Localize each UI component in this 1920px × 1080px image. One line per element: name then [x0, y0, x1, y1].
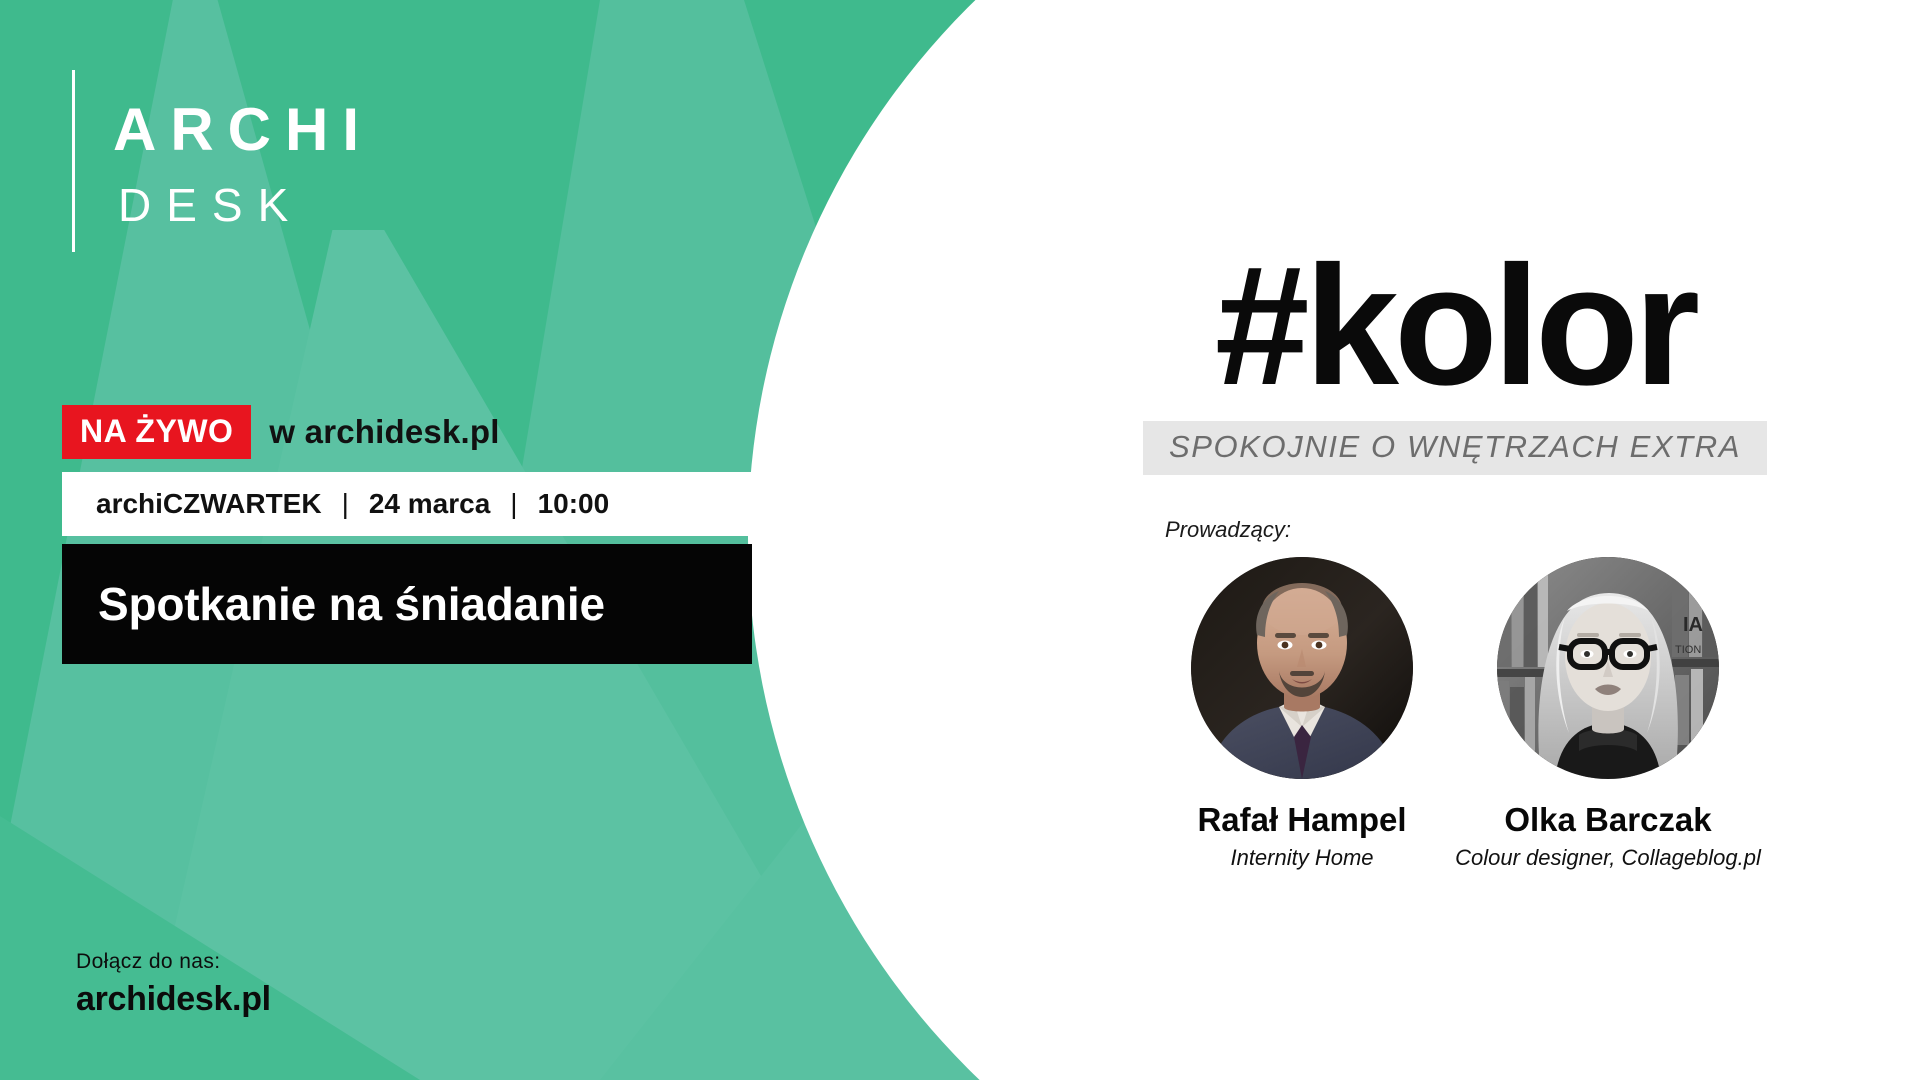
- live-badge: NA ŻYWO: [62, 405, 251, 459]
- speaker-name: Olka Barczak: [1504, 801, 1711, 839]
- logo-archi-text: ARCHI: [113, 100, 373, 160]
- poster-canvas: ARCHI DESK NA ŻYWO w archidesk.pl archiC…: [0, 0, 1920, 1080]
- live-where-text: w archidesk.pl: [269, 413, 499, 451]
- live-row: NA ŻYWO w archidesk.pl: [62, 405, 500, 459]
- logo-desk-text: DESK: [118, 182, 373, 228]
- headline-bar: Spotkanie na śniadanie: [62, 544, 752, 664]
- speakers-list: Rafał Hampel Internity Home: [1187, 557, 1723, 871]
- speaker-card: IA TION: [1493, 557, 1723, 871]
- portrait-woman-glasses-icon: IA TION: [1497, 557, 1719, 779]
- headline-title: Spotkanie na śniadanie: [62, 577, 605, 631]
- join-footer: Dołącz do nas: archidesk.pl: [76, 950, 271, 1019]
- archidesk-logo: ARCHI DESK: [72, 70, 373, 252]
- feature-hashtag: #kolor: [1215, 250, 1695, 403]
- avatar: IA TION: [1497, 557, 1719, 779]
- hosts-label: Prowadzący:: [1165, 517, 1291, 543]
- svg-text:TION: TION: [1675, 644, 1701, 656]
- meta-separator-2: |: [490, 488, 537, 520]
- logo-vertical-rule-icon: [72, 70, 75, 252]
- speaker-role: Internity Home: [1230, 845, 1373, 871]
- feature-tagline: SPOKOJNIE O WNĘTRZACH EXTRA: [1143, 421, 1767, 475]
- speaker-card: Rafał Hampel Internity Home: [1187, 557, 1417, 871]
- logo-wordmark: ARCHI DESK: [113, 70, 373, 252]
- svg-text:IA: IA: [1683, 614, 1703, 636]
- join-label: Dołącz do nas:: [76, 950, 271, 974]
- event-series: archiCZWARTEK: [96, 488, 322, 520]
- event-meta-inner: archiCZWARTEK | 24 marca | 10:00: [62, 488, 609, 520]
- join-url: archidesk.pl: [76, 980, 271, 1019]
- meta-separator-1: |: [322, 488, 369, 520]
- event-date: 24 marca: [369, 488, 490, 520]
- event-time: 10:00: [538, 488, 610, 520]
- event-meta-bar: archiCZWARTEK | 24 marca | 10:00: [62, 472, 752, 536]
- speaker-name: Rafał Hampel: [1197, 801, 1406, 839]
- feature-panel: #kolor SPOKOJNIE O WNĘTRZACH EXTRA Prowa…: [990, 0, 1920, 1080]
- speaker-role: Colour designer, Collageblog.pl: [1455, 845, 1761, 871]
- avatar: [1191, 557, 1413, 779]
- portrait-man-suit-icon: [1191, 557, 1413, 779]
